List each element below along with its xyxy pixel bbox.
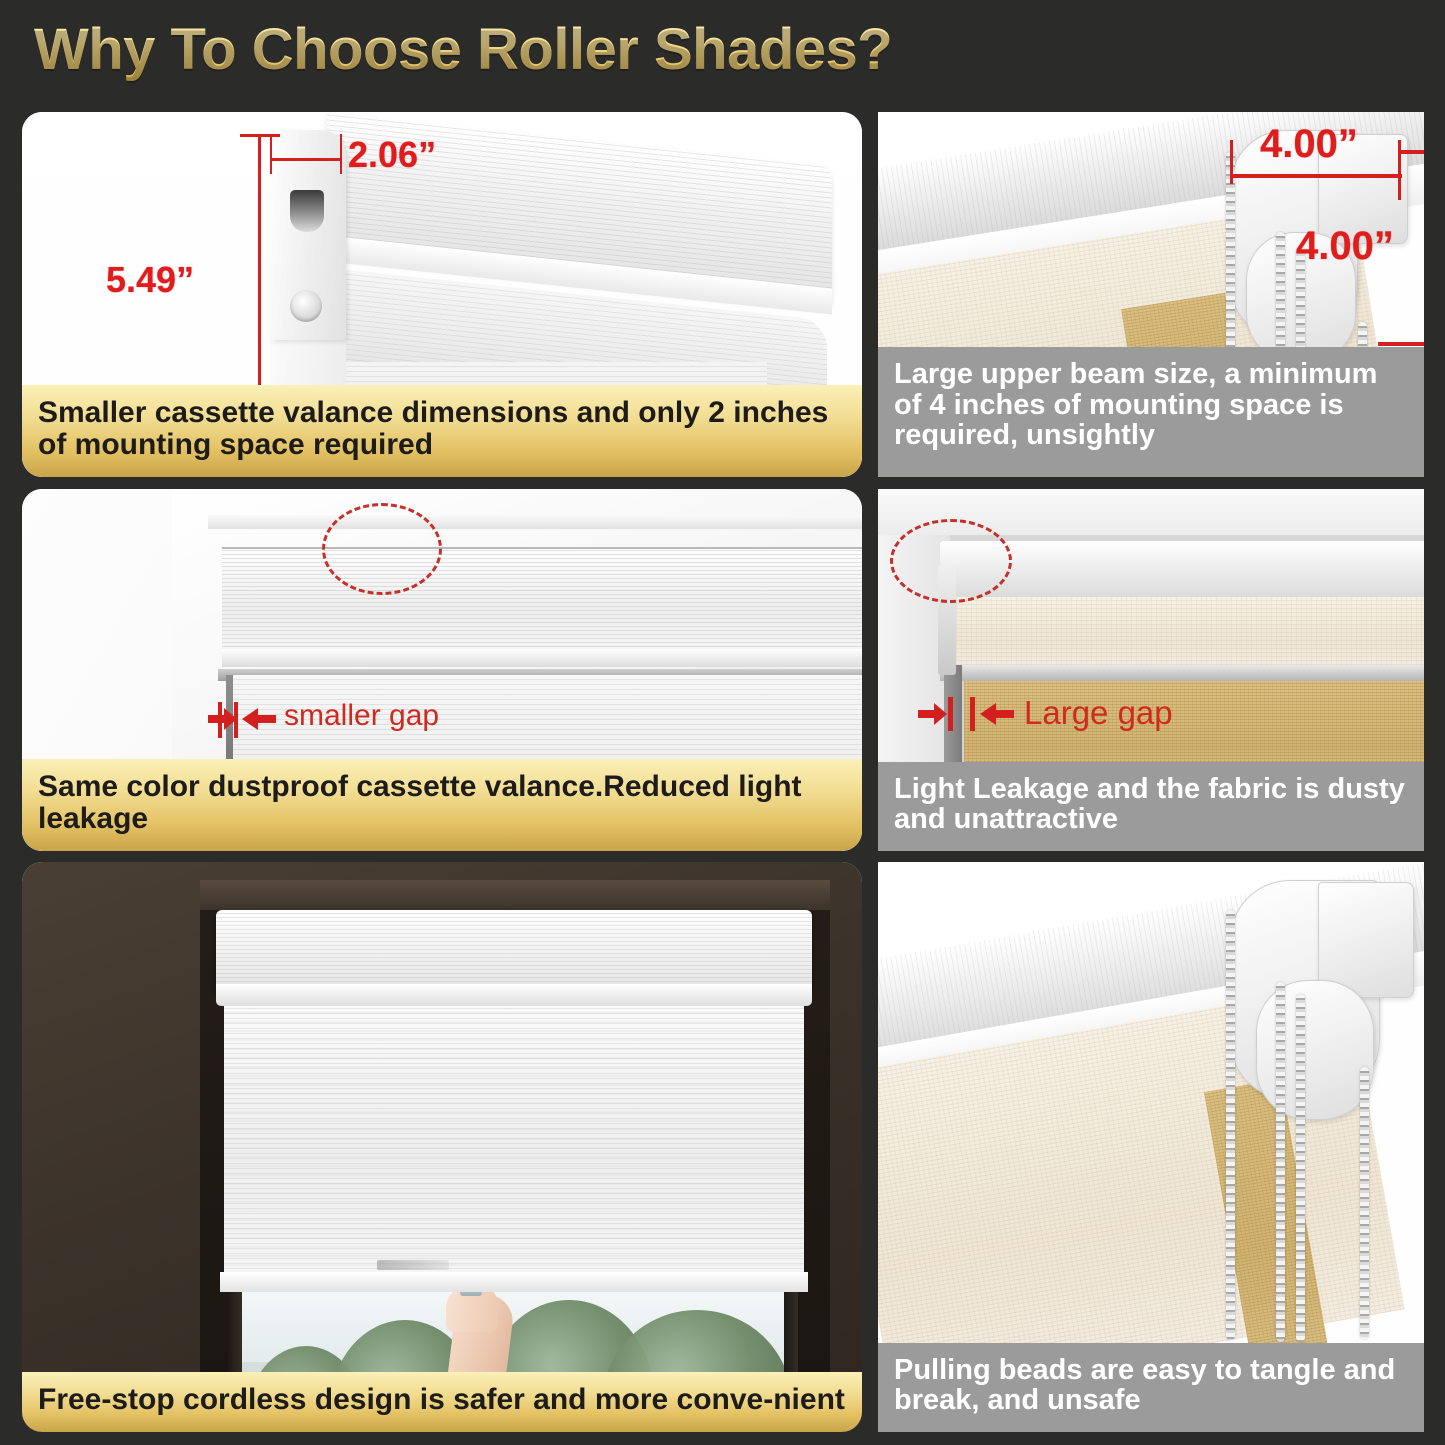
panel-dustproof-valance: smaller gap Same color dustproof cassett… xyxy=(22,489,862,851)
arrow-right-icon xyxy=(918,700,948,728)
dim-tick-right-top xyxy=(340,134,342,174)
brand-logo xyxy=(377,1260,449,1270)
gap-marker-left xyxy=(948,697,953,731)
dimension-width-label: 2.06” xyxy=(348,134,436,176)
bracket-lobe xyxy=(1256,980,1374,1120)
dimension-beam-height-label: 4.00” xyxy=(1296,224,1394,269)
cassette-headrail xyxy=(216,910,812,990)
metal-rail xyxy=(940,665,1424,681)
bracket-slot xyxy=(290,190,324,232)
shade-body xyxy=(224,1004,804,1284)
cassette-lip xyxy=(216,984,812,1006)
panel-4-caption: Light Leakage and the fabric is dusty an… xyxy=(878,762,1424,851)
dim-tick-right xyxy=(1398,140,1401,200)
arrow-left-icon xyxy=(240,705,276,733)
end-bracket xyxy=(270,130,346,340)
dimension-beam-width-label: 4.00” xyxy=(1260,122,1358,167)
dim-tick-top-right xyxy=(1398,150,1424,154)
gap-annotation-label: Large gap xyxy=(1024,694,1173,732)
cream-band xyxy=(946,597,1424,669)
dim-tick-bottom-right xyxy=(1378,342,1424,346)
dim-line-height xyxy=(258,134,261,427)
bracket-screw xyxy=(290,290,322,322)
panel-smaller-cassette: 2.06” 5.49” Smaller cassette valance dim… xyxy=(22,112,862,477)
dim-tick-left-top xyxy=(270,134,272,174)
panel-cordless-design: Free-stop cordless design is safer and m… xyxy=(22,862,862,1432)
gap-marker-right xyxy=(970,697,975,731)
panel-pulling-beads: Pulling beads are easy to tangle and bre… xyxy=(878,862,1424,1432)
valance-edge xyxy=(222,649,862,667)
panel-2-caption: Large upper beam size, a minimum of 4 in… xyxy=(878,347,1424,477)
panel-5-photo xyxy=(22,862,862,1432)
panel-grid: 2.06” 5.49” Smaller cassette valance dim… xyxy=(22,112,1424,1432)
dimension-height-label: 5.49” xyxy=(106,259,194,301)
bead-chain-1 xyxy=(1226,910,1235,1340)
page-title: Why To Choose Roller Shades? xyxy=(34,16,892,83)
dim-line-beam-width xyxy=(1230,174,1402,178)
panel-5-caption: Free-stop cordless design is safer and m… xyxy=(22,1372,862,1432)
panel-large-beam: 4.00” 4.00” Large upper beam size, a min… xyxy=(878,112,1424,477)
panel-3-caption: Same color dustproof cassette valance.Re… xyxy=(22,759,862,851)
highlight-circle xyxy=(890,519,1012,603)
headrail xyxy=(940,541,1424,603)
bead-chain-4 xyxy=(1360,1067,1369,1339)
window-lintel xyxy=(200,880,830,910)
dim-line-width xyxy=(270,158,342,161)
bead-chain-2 xyxy=(1276,982,1285,1342)
arrow-right-icon xyxy=(208,705,238,733)
panel-6-caption: Pulling beads are easy to tangle and bre… xyxy=(878,1343,1424,1432)
infographic-page: Why To Choose Roller Shades? 2.06” xyxy=(0,0,1445,1445)
frame-bevel xyxy=(208,515,862,529)
arrow-left-icon xyxy=(978,700,1014,728)
panel-1-caption: Smaller cassette valance dimensions and … xyxy=(22,385,862,477)
highlight-circle xyxy=(322,503,442,595)
bead-chain-3 xyxy=(1296,994,1305,1342)
gap-annotation-label: smaller gap xyxy=(284,699,439,733)
bottom-rail xyxy=(220,1272,808,1292)
panel-light-leakage: Large gap Light Leakage and the fabric i… xyxy=(878,489,1424,851)
cassette-valance xyxy=(222,547,862,659)
